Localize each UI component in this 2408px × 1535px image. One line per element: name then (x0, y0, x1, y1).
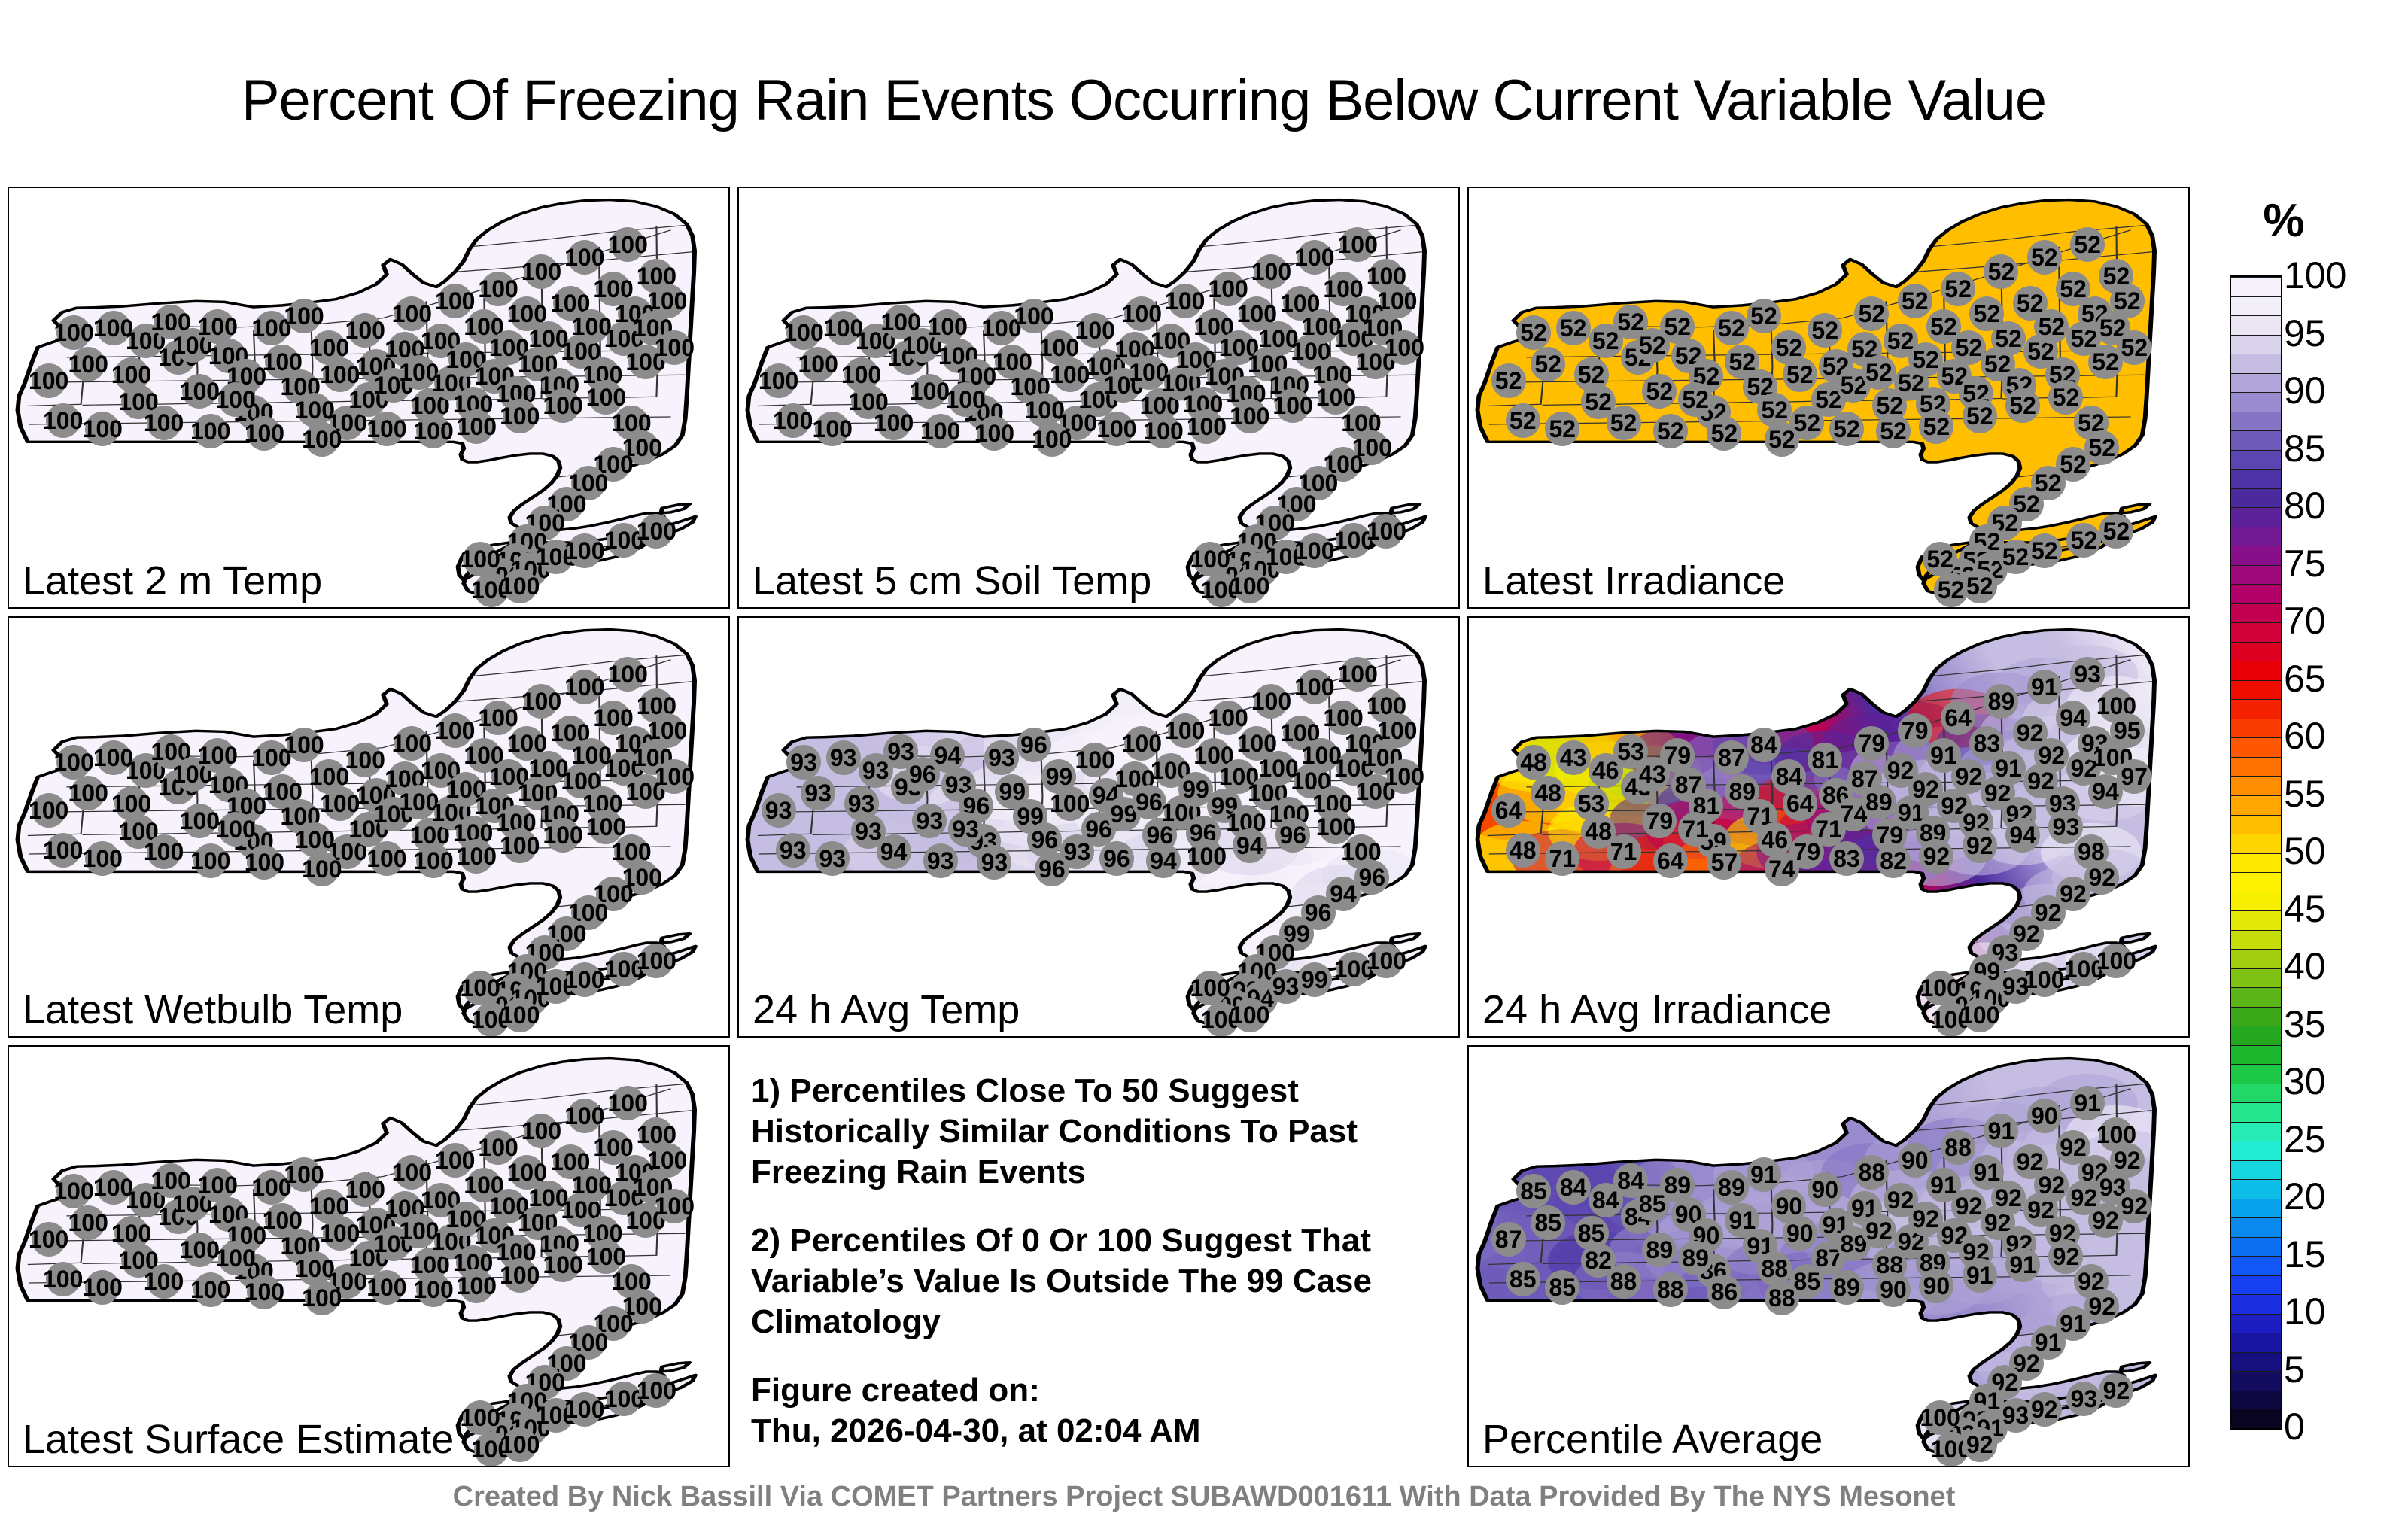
station-value: 87 (1718, 746, 1745, 770)
station-value: 100 (180, 809, 220, 833)
station-marker: 100 (567, 670, 602, 704)
station-marker: 52 (1747, 299, 1781, 333)
station-value: 100 (910, 379, 950, 403)
station-marker: 52 (2005, 388, 2040, 423)
station-disc-icon: 43 (1556, 740, 1591, 775)
station-value: 93 (2071, 1387, 2098, 1411)
station-marker: 100 (1233, 569, 1267, 603)
colorbar-tick-label: 70 (2284, 599, 2397, 643)
station-value: 100 (607, 1091, 647, 1115)
station-value: 94 (934, 743, 961, 767)
station-value: 100 (345, 1178, 385, 1202)
station-disc-icon: 100 (1369, 944, 1403, 978)
station-disc-icon: 100 (193, 1272, 228, 1307)
station-marker: 81 (1808, 743, 1842, 777)
station-marker: 93 (2066, 1381, 2101, 1416)
station-marker: 48 (1531, 776, 1565, 810)
station-marker: 100 (567, 533, 602, 568)
station-value: 91 (1995, 756, 2022, 780)
station-disc-icon: 48 (1531, 776, 1565, 810)
colorbar-segment (2231, 1237, 2281, 1257)
station-value: 100 (111, 792, 151, 816)
station-disc-icon: 100 (639, 514, 673, 549)
station-value: 52 (2071, 528, 2098, 552)
colorbar-segment (2231, 335, 2281, 354)
station-disc-icon: 100 (459, 409, 494, 444)
station-value: 81 (1811, 748, 1838, 772)
station-disc-icon: 100 (287, 1157, 321, 1192)
station-marker: 100 (459, 839, 494, 874)
station-disc-icon: 100 (1035, 422, 1069, 457)
station-value: 100 (284, 733, 324, 757)
station-value: 52 (1966, 404, 1993, 428)
station-marker: 82 (1876, 843, 1911, 878)
station-disc-icon: 100 (1189, 839, 1224, 874)
panel-label-24h-avg-irradiance: 24 h Avg Irradiance (1482, 989, 1832, 1030)
station-marker: 100 (46, 1262, 81, 1296)
colorbar-segment (2231, 277, 2281, 296)
station-disc-icon: 52 (1707, 416, 1741, 451)
station-marker: 100 (369, 841, 404, 876)
colorbar-gradient (2230, 275, 2282, 1430)
station-marker: 94 (1146, 843, 1181, 878)
station-value: 100 (111, 363, 151, 387)
station-marker: 100 (32, 1222, 66, 1257)
station-marker: 100 (463, 542, 497, 576)
map-panel-latest-surface-estimate: 1001001001001001001001001001001001001001… (8, 1045, 730, 1467)
station-value: 57 (1711, 850, 1738, 874)
station-marker: 100 (776, 403, 810, 438)
station-disc-icon: 100 (56, 315, 91, 350)
station-disc-icon: 100 (416, 1272, 451, 1307)
station-marker: 100 (948, 382, 983, 417)
station-marker: 93 (948, 812, 983, 847)
station-disc-icon: 92 (1862, 1214, 1896, 1248)
station-value: 100 (564, 1397, 604, 1421)
station-marker: 90 (2027, 1099, 2062, 1133)
station-marker: 52 (1642, 374, 1677, 409)
station-value: 95 (2114, 719, 2141, 743)
station-marker: 92 (1919, 839, 1953, 874)
colorbar-segment (2231, 469, 2281, 488)
station-value: 100 (144, 411, 184, 435)
station-value: 100 (245, 1280, 284, 1304)
station-value: 100 (1075, 748, 1115, 772)
station-value: 100 (813, 417, 853, 441)
colorbar-segment (2231, 1141, 2281, 1160)
station-marker: 100 (503, 1258, 537, 1293)
station-value: 52 (1926, 547, 1953, 571)
station-disc-icon: 90 (1808, 1172, 1842, 1207)
station-disc-icon: 100 (305, 422, 339, 457)
station-value: 94 (880, 840, 908, 864)
station-disc-icon: 100 (463, 971, 497, 1005)
station-disc-icon: 100 (503, 1258, 537, 1293)
station-marker: 57 (1707, 845, 1741, 880)
station-disc-icon: 64 (1491, 793, 1526, 828)
station-value: 84 (1750, 733, 1777, 757)
station-value: 90 (1880, 1278, 1907, 1302)
station-value: 100 (945, 388, 985, 412)
station-disc-icon: 100 (1099, 412, 1134, 446)
station-disc-icon: 84 (1556, 1170, 1591, 1205)
station-marker: 100 (877, 406, 911, 440)
colorbar-tick-label: 30 (2284, 1059, 2397, 1103)
colorbar-segment (2231, 1160, 2281, 1180)
station-marker: 100 (801, 347, 835, 381)
station-value: 100 (783, 321, 823, 345)
station-value: 100 (1920, 976, 1960, 1000)
station-disc-icon: 52 (1516, 315, 1551, 350)
colorbar-segment (2231, 1199, 2281, 1218)
station-marker: 92 (1963, 828, 1997, 863)
station-marker: 91 (2027, 670, 2062, 704)
station-value: 100 (1187, 844, 1227, 868)
choropleth-map: 1001001001001001001001001001001001001001… (739, 188, 1458, 607)
station-marker: 85 (1545, 1270, 1579, 1305)
colorbar-segment (2231, 815, 2281, 834)
station-disc-icon: 100 (2027, 962, 2062, 997)
station-disc-icon: 92 (2117, 1189, 2151, 1223)
station-marker: 52 (1919, 409, 1953, 444)
station-marker: 100 (56, 315, 91, 350)
station-disc-icon: 91 (2070, 1086, 2105, 1120)
station-value: 100 (928, 315, 968, 339)
station-value: 100 (83, 847, 123, 871)
station-disc-icon: 100 (1380, 284, 1415, 318)
station-disc-icon: 93 (801, 776, 835, 810)
station-value: 88 (1859, 1160, 1886, 1184)
station-disc-icon: 83 (1829, 841, 1864, 876)
station-value: 100 (1337, 662, 1377, 686)
station-marker: 100 (71, 347, 105, 381)
station-marker: 52 (1963, 569, 1997, 603)
station-disc-icon: 91 (2027, 670, 2062, 704)
station-value: 52 (1682, 388, 1709, 412)
station-marker: 100 (416, 1272, 451, 1307)
station-value: 91 (2031, 675, 2058, 699)
station-value: 99 (1301, 968, 1328, 992)
station-marker: 92 (2099, 1373, 2133, 1408)
station-disc-icon: 48 (1506, 833, 1540, 868)
station-value: 100 (647, 1148, 687, 1172)
station-value: 100 (29, 798, 68, 822)
station-marker: 100 (1387, 330, 1421, 365)
station-value: 79 (1664, 743, 1691, 767)
station-marker: 93 (786, 745, 821, 780)
station-disc-icon: 100 (46, 1262, 81, 1296)
station-value: 86 (1711, 1280, 1738, 1304)
station-value: 100 (1272, 394, 1312, 418)
station-disc-icon: 92 (2034, 738, 2069, 773)
station-disc-icon: 100 (639, 944, 673, 978)
colorbar-segment (2231, 757, 2281, 777)
station-disc-icon: 89 (1984, 684, 2018, 719)
station-value: 100 (2024, 968, 2064, 992)
station-marker: 93 (912, 804, 947, 838)
station-marker: 100 (639, 514, 673, 549)
station-marker: 100 (348, 313, 382, 348)
station-value: 100 (1960, 1003, 1999, 1027)
station-value: 100 (215, 817, 255, 841)
station-marker: 100 (287, 1157, 321, 1192)
station-marker: 100 (369, 412, 404, 446)
panel-label-latest-5cm-soil-temp: Latest 5 cm Soil Temp (752, 561, 1151, 601)
station-marker: 52 (2070, 227, 2105, 262)
station-disc-icon: 64 (1653, 843, 1688, 878)
station-value: 52 (1859, 302, 1886, 326)
station-value: 52 (1560, 316, 1587, 340)
colorbar-tick-label: 100 (2284, 254, 2397, 297)
station-marker: 100 (650, 284, 685, 318)
station-disc-icon: 100 (503, 399, 537, 433)
station-disc-icon: 100 (463, 1400, 497, 1435)
station-disc-icon: 100 (85, 1270, 120, 1305)
station-marker: 85 (1531, 1205, 1565, 1240)
station-disc-icon: 85 (1545, 1270, 1579, 1305)
map-panel-latest-2m-temp: 1001001001001001001001001001001001001001… (8, 187, 730, 609)
station-marker: 89 (1829, 1270, 1864, 1305)
station-marker: 100 (2099, 944, 2133, 978)
station-disc-icon: 100 (1340, 227, 1375, 262)
station-value: 93 (981, 850, 1008, 874)
station-value: 52 (2088, 436, 2115, 460)
station-value: 93 (988, 746, 1015, 770)
station-disc-icon: 93 (2066, 1381, 2101, 1416)
station-value: 71 (1549, 847, 1576, 871)
colorbar-tick-label: 10 (2284, 1290, 2397, 1333)
station-marker: 64 (1491, 793, 1526, 828)
colorbar-segment (2231, 622, 2281, 642)
colorbar-tick-label: 60 (2284, 714, 2397, 758)
station-value: 96 (1136, 790, 1163, 814)
station-disc-icon: 100 (182, 374, 217, 409)
station-disc-icon: 52 (2110, 284, 2145, 318)
station-disc-icon: 100 (977, 416, 1011, 451)
station-marker: 100 (1275, 388, 1310, 423)
station-disc-icon: 100 (182, 1233, 217, 1267)
station-marker: 88 (1653, 1272, 1688, 1307)
station-value: 100 (1096, 417, 1136, 441)
station-disc-icon: 100 (71, 347, 105, 381)
station-disc-icon: 100 (56, 745, 91, 780)
station-disc-icon: 100 (1963, 998, 1997, 1032)
station-value: 100 (1230, 1003, 1269, 1027)
station-value: 100 (309, 764, 349, 789)
station-marker: 92 (2034, 738, 2069, 773)
station-marker: 100 (32, 793, 66, 828)
station-disc-icon: 100 (877, 406, 911, 440)
station-value: 100 (521, 1119, 561, 1143)
station-disc-icon: 100 (923, 414, 958, 448)
station-value: 79 (1646, 809, 1674, 833)
station-disc-icon: 91 (1984, 1114, 2018, 1148)
station-marker: 100 (305, 852, 339, 886)
station-disc-icon: 100 (610, 1086, 645, 1120)
station-value: 52 (1912, 348, 1939, 372)
station-value: 91 (1750, 1163, 1777, 1187)
station-disc-icon: 92 (2034, 1168, 2069, 1202)
station-value: 52 (2121, 336, 2148, 360)
station-disc-icon: 100 (1233, 399, 1267, 433)
station-disc-icon: 79 (1642, 804, 1677, 838)
station-marker: 94 (2005, 818, 2040, 853)
choropleth-map: 1001001001001001001001001001001001001001… (9, 188, 728, 607)
colorbar-segment (2231, 892, 2281, 911)
station-value: 93 (1272, 974, 1300, 999)
station-disc-icon: 100 (1193, 971, 1227, 1005)
station-marker: 100 (463, 1400, 497, 1435)
station-disc-icon: 100 (247, 845, 281, 880)
station-value: 100 (43, 1267, 83, 1291)
station-disc-icon: 100 (218, 1241, 253, 1275)
station-marker: 100 (524, 1114, 558, 1148)
choropleth-map: 8785858585858484828484888985899088908689… (1469, 1047, 2188, 1466)
station-marker: 85 (1516, 1174, 1551, 1208)
station-value: 92 (1956, 764, 1983, 789)
station-disc-icon: 52 (1963, 399, 1997, 433)
station-disc-icon: 100 (657, 330, 692, 365)
station-value: 96 (1279, 823, 1306, 847)
station-value: 100 (500, 1433, 540, 1457)
station-marker: 96 (1017, 728, 1051, 762)
colorbar-segment (2231, 565, 2281, 585)
station-marker: 100 (193, 1272, 228, 1307)
station-disc-icon: 89 (1714, 1170, 1749, 1205)
station-disc-icon: 92 (1963, 1427, 1997, 1462)
station-marker: 100 (657, 330, 692, 365)
station-disc-icon: 52 (2117, 330, 2151, 365)
station-marker: 89 (1862, 785, 1896, 819)
station-value: 92 (1956, 1194, 1983, 1218)
station-disc-icon: 100 (348, 743, 382, 777)
colorbar-segment (2231, 1256, 2281, 1275)
station-value: 100 (366, 847, 406, 871)
station-disc-icon: 100 (1297, 533, 1332, 568)
map-panel-latest-wetbulb-temp: 1001001001001001001001001001001001001001… (8, 616, 730, 1038)
station-disc-icon: 100 (193, 414, 228, 448)
station-disc-icon: 100 (459, 1269, 494, 1303)
station-value: 100 (392, 302, 432, 326)
station-disc-icon: 92 (2099, 1373, 2133, 1408)
station-marker: 92 (1862, 1214, 1896, 1248)
station-marker: 100 (348, 743, 382, 777)
station-value: 93 (917, 809, 944, 833)
station-marker: 100 (546, 818, 580, 853)
station-disc-icon: 52 (1808, 313, 1842, 348)
station-value: 100 (29, 369, 68, 393)
station-disc-icon: 100 (912, 374, 947, 409)
station-marker: 100 (1078, 743, 1112, 777)
colorbar-segment (2231, 584, 2281, 603)
station-value: 100 (413, 849, 453, 873)
station-marker: 100 (182, 374, 217, 409)
station-disc-icon: 88 (1765, 1281, 1799, 1315)
station-value: 100 (1385, 336, 1424, 360)
station-value: 64 (1786, 792, 1814, 816)
station-value: 84 (1776, 764, 1803, 789)
station-disc-icon: 52 (1919, 409, 1953, 444)
station-value: 92 (1865, 1219, 1893, 1243)
station-marker: 100 (503, 1427, 537, 1462)
station-marker: 100 (1340, 227, 1375, 262)
station-value: 100 (564, 675, 604, 699)
station-value: 64 (1944, 706, 1972, 730)
panel-label-latest-wetbulb-temp: Latest Wetbulb Temp (23, 989, 403, 1030)
figure-created-block: Figure created on:Thu, 2026-04-30, at 02… (751, 1370, 1455, 1451)
colorbar-title: % (2239, 194, 2329, 248)
station-value: 92 (2031, 1397, 2058, 1421)
station-marker: 52 (1862, 355, 1896, 390)
station-value: 100 (500, 574, 540, 598)
station-disc-icon: 100 (193, 843, 228, 878)
station-value: 84 (1560, 1175, 1587, 1199)
station-disc-icon: 52 (1862, 355, 1896, 390)
station-disc-icon: 91 (1747, 1157, 1781, 1192)
station-value: 52 (2002, 545, 2029, 569)
colorbar-segment (2231, 1314, 2281, 1333)
station-marker: 100 (977, 416, 1011, 451)
station-value: 48 (1520, 750, 1547, 774)
panel-label-latest-irradiance: Latest Irradiance (1482, 561, 1785, 601)
station-value: 92 (2088, 1294, 2115, 1318)
station-marker: 93 (826, 740, 861, 775)
station-value: 93 (952, 817, 979, 841)
station-marker: 100 (762, 363, 796, 398)
station-disc-icon: 94 (877, 834, 911, 869)
station-marker: 100 (56, 745, 91, 780)
station-marker: 43 (1556, 740, 1591, 775)
station-disc-icon: 52 (1876, 414, 1911, 448)
station-marker: 100 (610, 227, 645, 262)
station-value: 52 (1664, 315, 1691, 339)
station-marker: 100 (639, 1373, 673, 1408)
station-value: 100 (500, 404, 540, 428)
colorbar-tick-label: 80 (2284, 484, 2397, 527)
station-marker: 85 (1506, 1262, 1540, 1296)
station-value: 100 (53, 1179, 93, 1203)
station-marker: 100 (546, 388, 580, 423)
station-value: 52 (1768, 427, 1795, 451)
station-disc-icon: 100 (776, 403, 810, 438)
station-marker: 52 (1516, 315, 1551, 350)
station-marker: 48 (1506, 833, 1540, 868)
station-disc-icon: 100 (1297, 670, 1332, 704)
station-value: 93 (790, 750, 817, 774)
station-value: 100 (1075, 318, 1115, 342)
station-disc-icon: 52 (1531, 347, 1565, 381)
station-value: 100 (43, 838, 83, 862)
station-marker: 100 (247, 845, 281, 880)
station-marker: 100 (610, 1086, 645, 1120)
station-value: 100 (53, 321, 93, 345)
station-marker: 71 (1545, 841, 1579, 876)
station-value: 100 (190, 419, 230, 443)
station-disc-icon: 100 (1193, 542, 1227, 576)
station-value: 100 (457, 1274, 497, 1298)
station-value: 100 (144, 1269, 184, 1293)
station-value: 92 (1966, 834, 1993, 858)
station-disc-icon: 100 (503, 998, 537, 1032)
colorbar-tick-label: 20 (2284, 1175, 2397, 1218)
station-disc-icon: 100 (71, 776, 105, 810)
station-marker: 100 (503, 828, 537, 863)
station-value: 100 (655, 1194, 695, 1218)
station-marker: 100 (71, 776, 105, 810)
station-disc-icon: 52 (1556, 311, 1591, 345)
station-value: 97 (2121, 764, 2148, 789)
colorbar-segment (2231, 507, 2281, 527)
